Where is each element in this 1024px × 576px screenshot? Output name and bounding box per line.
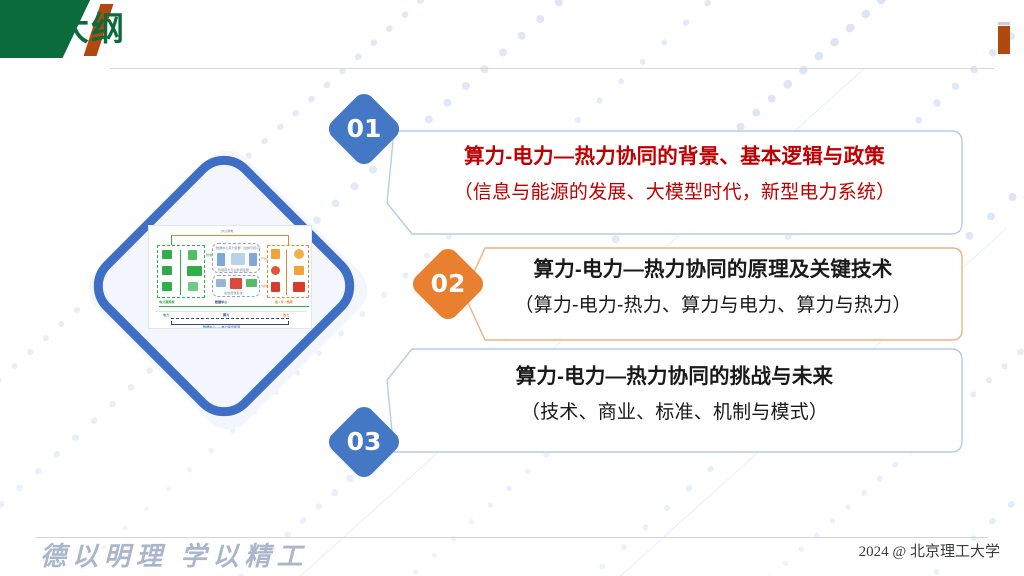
artwork-schematic-image: 办公用电 数据中心算力集群（边缘与核心）	[148, 225, 312, 329]
card-subtitle-02: （算力-电力-热力、算力与电力、算力与热力）	[463, 291, 963, 321]
schematic-label-bottom-left: 电力	[163, 313, 169, 317]
schematic-label-produce: 产热	[261, 257, 267, 261]
card-subtitle-01: （信息与能源的发展、大模型时代，新型电力系统）	[386, 178, 963, 208]
slide-header: 大纲	[0, 0, 1024, 74]
header-accent-bar	[998, 26, 1010, 54]
schematic-top-right-drop	[288, 235, 289, 245]
schematic-label-bottom-caption: 数据中心——电力综合能源	[203, 325, 240, 329]
footer-motto: 德以明理 学以精工	[40, 536, 309, 573]
schematic-label-bottom-mid: 算力	[223, 313, 229, 317]
schematic-label-center-mid: 智能算力与业务调度层	[218, 268, 249, 272]
schematic-thermal-block	[267, 245, 309, 298]
card-title-03: 算力-电力—热力协同的挑战与未来	[386, 362, 963, 392]
card-subtitle-03: （技术、商业、标准、机制与模式）	[386, 398, 963, 428]
header-divider	[110, 68, 994, 69]
outline-item-02[interactable]: 算力-电力—热力协同的原理及关键技术 （算力-电力-热力、算力与电力、算力与热力…	[463, 247, 963, 341]
schematic-label-supply: 供电	[206, 253, 212, 257]
outline-item-03[interactable]: 算力-电力—热力协同的挑战与未来 （技术、商业、标准、机制与模式）	[386, 348, 963, 453]
schematic-heat-recovery-block: 余热回收系统	[212, 275, 260, 297]
schematic-label-heat: 供热	[261, 284, 267, 288]
footer-copyright: 2024 @ 北京理工大学	[859, 540, 1000, 561]
schematic-label-flow-mid: 数据中心	[215, 300, 227, 304]
schematic-label-flow-left: 电力源网荷	[159, 300, 174, 304]
schematic-diagram: 办公用电 数据中心算力集群（边缘与核心）	[149, 226, 311, 328]
artwork-diamond: 办公用电 数据中心算力集群（边缘与核心）	[78, 140, 378, 440]
header-accent-cap	[998, 22, 1010, 25]
page-title: 大纲	[56, 7, 126, 51]
schematic-datacenter-block: 数据中心算力集群（边缘与核心） 智能算力与业务调度层	[212, 243, 260, 273]
schematic-top-line	[171, 235, 289, 236]
schematic-label-bottom-right: 热力	[283, 313, 289, 317]
schematic-label-flow-right: 热 / 冷 / 热网	[275, 300, 293, 304]
outline-item-01[interactable]: 算力-电力—热力协同的背景、基本逻辑与政策 （信息与能源的发展、大模型时代，新型…	[386, 130, 963, 235]
schematic-top-left-drop	[171, 235, 172, 245]
schematic-label-top: 办公用电	[221, 229, 233, 233]
schematic-power-block	[157, 245, 205, 298]
schematic-label-center-bottom: 余热回收系统	[224, 291, 243, 295]
card-title-02: 算力-电力—热力协同的原理及关键技术	[463, 255, 963, 285]
schematic-label-center-top: 数据中心算力集群（边缘与核心）	[216, 246, 262, 250]
outline-badge-03[interactable]: 03	[324, 402, 403, 481]
slide-root: 大纲 办公用电	[0, 0, 1024, 576]
card-title-01: 算力-电力—热力协同的背景、基本逻辑与政策	[386, 142, 963, 172]
outline-badge-01[interactable]: 01	[324, 89, 403, 168]
outline-badge-02[interactable]: 02	[408, 244, 487, 323]
